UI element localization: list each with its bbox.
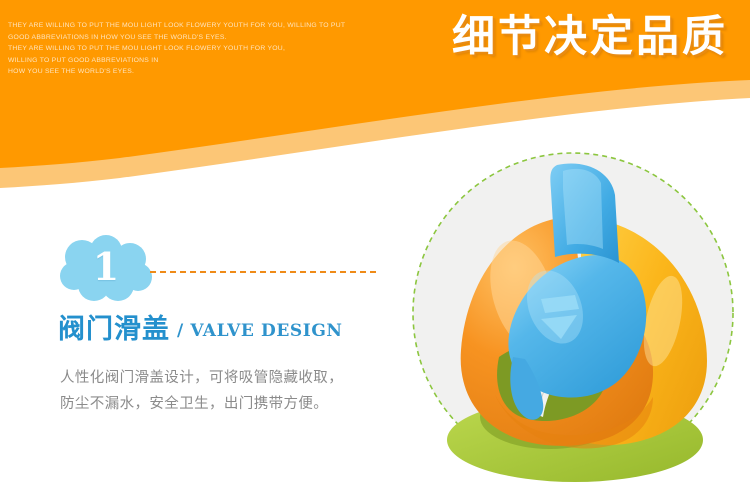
description-line: 防尘不漏水，安全卫生，出门携带方便。: [60, 391, 390, 417]
chinese-headline: 细节决定品质: [452, 8, 728, 66]
valve-tab-gloss: [563, 169, 603, 249]
section-title-en: / VALVE DESIGN: [177, 319, 343, 345]
section-title-row: 阀门滑盖 / VALVE DESIGN: [58, 315, 420, 345]
english-slogan-line: THEY ARE WILLING TO PUT THE MOU LIGHT LO…: [8, 43, 308, 55]
section-description: 人性化阀门滑盖设计，可将吸管隐藏收取， 防尘不漏水，安全卫生，出门携带方便。: [60, 365, 390, 417]
badge-number: 1: [58, 235, 154, 301]
english-slogan-line: THEY ARE WILLING TO PUT THE MOU LIGHT LO…: [8, 20, 308, 32]
product-photo: [395, 145, 750, 493]
english-slogan: THEY ARE WILLING TO PUT THE MOU LIGHT LO…: [8, 20, 308, 78]
english-slogan-line: HOW YOU SEE THE WORLD'S EYES.: [8, 66, 308, 78]
product-detail-banner: THEY ARE WILLING TO PUT THE MOU LIGHT LO…: [0, 0, 750, 493]
description-line: 人性化阀门滑盖设计，可将吸管隐藏收取，: [60, 365, 390, 391]
section-title-cn: 阀门滑盖: [58, 315, 170, 345]
product-photo-graphic: [395, 145, 750, 493]
english-slogan-line: GOOD ABBREVIATIONS IN HOW YOU SEE THE WO…: [8, 32, 308, 44]
feature-section: 1 阀门滑盖 / VALVE DESIGN 人性化阀门滑盖设计，可将吸管隐藏收取…: [0, 235, 420, 435]
english-slogan-line: WILLING TO PUT GOOD ABBREVIATIONS IN: [8, 55, 308, 67]
badge-divider-line: [150, 271, 376, 273]
badge-row: 1: [58, 235, 420, 303]
